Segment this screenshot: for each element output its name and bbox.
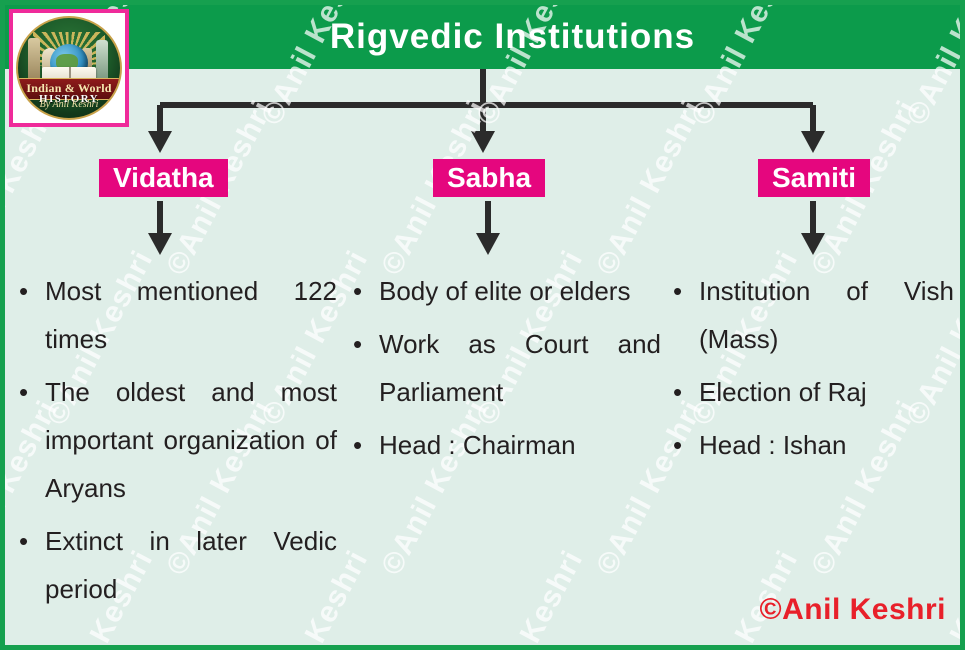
arrowhead-vidatha-bottom bbox=[148, 233, 172, 255]
bullet-icon: • bbox=[19, 267, 45, 315]
arrowhead-sabha-top bbox=[471, 131, 495, 153]
column-samiti: • Institution of Vish (Mass) • Election … bbox=[665, 267, 960, 618]
list-item-text: Head : Ishan bbox=[699, 421, 954, 469]
arrowhead-samiti-bottom bbox=[801, 233, 825, 255]
list-item: • Head : Ishan bbox=[673, 421, 954, 469]
bullet-icon: • bbox=[353, 421, 379, 469]
list-item-text: The oldest and most important organizati… bbox=[45, 368, 337, 512]
copyright-signature: ©Anil Keshri bbox=[760, 593, 946, 627]
bullet-icon: • bbox=[19, 517, 45, 565]
arrowhead-samiti-top bbox=[801, 131, 825, 153]
list-item-text: Extinct in later Vedic period bbox=[45, 517, 337, 613]
list-item: • Election of Raj bbox=[673, 368, 954, 416]
list-item: • The oldest and most important organiza… bbox=[19, 368, 337, 512]
list-item-text: Body of elite or elders bbox=[379, 267, 661, 315]
list-item: • Most mentioned 122 times bbox=[19, 267, 337, 363]
list-item: • Body of elite or elders bbox=[353, 267, 661, 315]
list-item-text: Work as Court and Parliament bbox=[379, 320, 661, 416]
list-item: • Head : Chairman bbox=[353, 421, 661, 469]
list-item: • Institution of Vish (Mass) bbox=[673, 267, 954, 363]
logo-statue-of-liberty-icon bbox=[96, 40, 108, 78]
list-item-text: Most mentioned 122 times bbox=[45, 267, 337, 363]
arrowhead-sabha-bottom bbox=[476, 233, 500, 255]
page-title: Rigvedic Institutions bbox=[5, 5, 960, 69]
category-box-samiti[interactable]: Samiti bbox=[758, 159, 870, 197]
bullet-icon: • bbox=[673, 421, 699, 469]
list-item-text: Election of Raj bbox=[699, 368, 954, 416]
bullet-icon: • bbox=[353, 267, 379, 315]
list-item: • Extinct in later Vedic period bbox=[19, 517, 337, 613]
list-item: • Work as Court and Parliament bbox=[353, 320, 661, 416]
header-bar: Rigvedic Institutions bbox=[5, 5, 960, 69]
logo-byline: By Anil Keshri bbox=[18, 99, 120, 110]
bullet-icon: • bbox=[673, 368, 699, 416]
list-item-text: Institution of Vish (Mass) bbox=[699, 267, 954, 363]
logo-emblem: Indian & World HISTORY By Anil Keshri bbox=[16, 16, 122, 120]
column-sabha: • Body of elite or elders • Work as Cour… bbox=[345, 267, 665, 618]
content-columns: • Most mentioned 122 times • The oldest … bbox=[5, 267, 960, 618]
arrowhead-vidatha-top bbox=[148, 131, 172, 153]
list-item-text: Head : Chairman bbox=[379, 421, 661, 469]
bullet-icon: • bbox=[19, 368, 45, 416]
column-vidatha: • Most mentioned 122 times • The oldest … bbox=[5, 267, 345, 618]
category-box-vidatha[interactable]: Vidatha bbox=[99, 159, 228, 197]
brand-logo: Indian & World HISTORY By Anil Keshri bbox=[9, 9, 129, 127]
bullet-icon: • bbox=[673, 267, 699, 315]
bullet-icon: • bbox=[353, 320, 379, 368]
logo-temple-icon bbox=[28, 38, 40, 78]
category-box-sabha[interactable]: Sabha bbox=[433, 159, 545, 197]
infographic-page: Rigvedic Institutions Indian & World HIS… bbox=[0, 0, 965, 650]
